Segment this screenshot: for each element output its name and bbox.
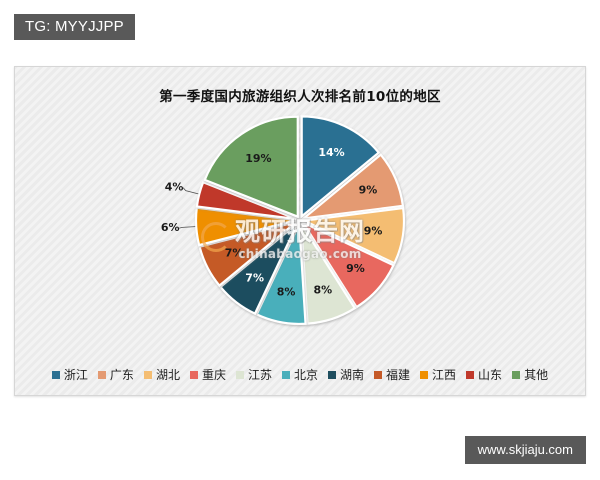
legend-swatch <box>328 371 336 379</box>
legend-item[interactable]: 北京 <box>282 366 318 383</box>
legend-label: 山东 <box>478 366 502 383</box>
pie-slice-label: 8% <box>314 283 333 296</box>
pie-slice-label: 19% <box>245 152 271 165</box>
pie-slice-label: 14% <box>318 146 344 159</box>
legend-label: 重庆 <box>202 366 226 383</box>
legend-swatch <box>144 371 152 379</box>
legend-label: 江苏 <box>248 366 272 383</box>
chart-title: 第一季度国内旅游组织人次排名前10位的地区 <box>15 85 585 105</box>
legend-item[interactable]: 其他 <box>512 366 548 383</box>
legend-label: 其他 <box>524 366 548 383</box>
legend-label: 湖北 <box>156 366 180 383</box>
chart-legend: 浙江广东湖北重庆江苏北京湖南福建江西山东其他 <box>23 366 577 383</box>
legend-swatch <box>236 371 244 379</box>
legend-label: 广东 <box>110 366 134 383</box>
legend-label: 湖南 <box>340 366 364 383</box>
legend-swatch <box>374 371 382 379</box>
legend-item[interactable]: 江西 <box>420 366 456 383</box>
legend-swatch <box>52 371 60 379</box>
tg-badge: TG: MYYJJPP <box>14 14 135 40</box>
pie-slice-label: 7% <box>245 271 264 284</box>
legend-swatch <box>420 371 428 379</box>
pie-slice-label: 8% <box>277 286 296 299</box>
legend-label: 福建 <box>386 366 410 383</box>
pie-slice-label: 6% <box>161 221 180 234</box>
chart-card: 第一季度国内旅游组织人次排名前10位的地区 14%9%9%9%8%8%7%7%6… <box>14 66 586 396</box>
pie-slice-label: 9% <box>346 262 365 275</box>
pie-leader-line <box>183 188 198 194</box>
legend-item[interactable]: 湖北 <box>144 366 180 383</box>
legend-item[interactable]: 浙江 <box>52 366 88 383</box>
pie-slice-label: 4% <box>165 181 184 194</box>
legend-swatch <box>282 371 290 379</box>
legend-label: 江西 <box>432 366 456 383</box>
legend-item[interactable]: 重庆 <box>190 366 226 383</box>
legend-item[interactable]: 江苏 <box>236 366 272 383</box>
pie-slice-label: 9% <box>364 225 383 238</box>
pie-slice-label: 7% <box>225 247 244 260</box>
legend-item[interactable]: 山东 <box>466 366 502 383</box>
legend-swatch <box>466 371 474 379</box>
site-url-badge: www.skjiaju.com <box>465 436 586 464</box>
pie-chart-svg: 14%9%9%9%8%8%7%7%6%4%19% <box>90 113 510 331</box>
legend-label: 浙江 <box>64 366 88 383</box>
legend-item[interactable]: 福建 <box>374 366 410 383</box>
legend-label: 北京 <box>294 366 318 383</box>
pie-slices <box>196 116 404 324</box>
legend-swatch <box>512 371 520 379</box>
legend-item[interactable]: 湖南 <box>328 366 364 383</box>
pie-slice-label: 9% <box>359 184 378 197</box>
pie-leader-line <box>179 227 195 229</box>
legend-swatch <box>98 371 106 379</box>
legend-swatch <box>190 371 198 379</box>
legend-item[interactable]: 广东 <box>98 366 134 383</box>
pie-chart: 14%9%9%9%8%8%7%7%6%4%19% <box>15 113 585 331</box>
